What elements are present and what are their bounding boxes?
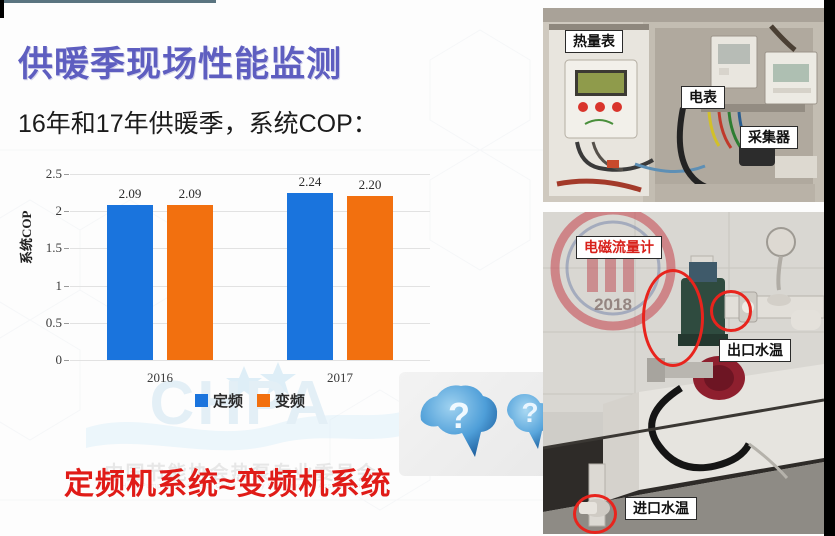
chart-data-label: 2.09 [119, 186, 142, 202]
chart-legend: 定频 变频 [70, 390, 430, 411]
highlight-circle-flow-meter [642, 269, 704, 367]
chart-y-tick-label: 1 [56, 278, 63, 294]
chart-bar-变频-2017[interactable] [347, 196, 393, 360]
chart-y-axis-title: 系统COP [16, 211, 35, 264]
chart-x-tick-label: 2017 [327, 370, 353, 386]
chart-y-tick-label: 0.5 [46, 315, 62, 331]
page-title: 供暖季现场性能监测 [18, 36, 342, 87]
page-subtitle: 16年和17年供暖季，系统COP： [18, 104, 378, 140]
highlight-circle-inlet-temp [573, 494, 617, 534]
legend-label-bianpin: 变频 [275, 390, 305, 411]
slide-canvas: 供暖季现场性能监测 16年和17年供暖季，系统COP： 系统COP CHPA 中… [0, 0, 835, 536]
legend-item-bianpin[interactable]: 变频 [257, 390, 305, 411]
chart-y-tick-label: 1.5 [46, 240, 62, 256]
highlight-circle-outlet-temp [710, 290, 752, 332]
svg-text:?: ? [521, 397, 538, 428]
callout-data-collector: 采集器 [740, 126, 798, 149]
chart-bar-定频-2016[interactable] [107, 205, 153, 360]
svg-text:?: ? [448, 395, 470, 436]
chart-gridline [70, 174, 430, 175]
chart-bar-定频-2017[interactable] [287, 193, 333, 360]
piping-instrumentation-photo: 2018 电磁流量计 出口水温 进口水温 [543, 212, 824, 534]
chart-plot-area: 00.511.522.52.092.0920162.242.202017 [70, 174, 430, 360]
chart-y-tick-label: 2.5 [46, 166, 62, 182]
chart-x-tick-label: 2016 [147, 370, 173, 386]
callout-flow-meter: 电磁流量计 [576, 236, 662, 259]
top-rule [4, 0, 216, 3]
callout-inlet-water-temp: 进口水温 [625, 497, 697, 520]
right-edge-bar [824, 0, 835, 536]
legend-swatch-blue [195, 394, 208, 407]
legend-label-dingpin: 定频 [213, 390, 243, 411]
chart-data-label: 2.24 [299, 174, 322, 190]
conclusion-text: 定频机系统≈变频机系统 [64, 459, 391, 503]
cop-bar-chart: 系统COP CHPA 中国节能协会热泵专业委员会 Heat Pump Commi… [18, 168, 438, 428]
chart-y-tick-label: 2 [56, 203, 63, 219]
callout-electricity-meter: 电表 [681, 86, 725, 109]
chart-gridline [70, 360, 430, 361]
legend-swatch-orange [257, 394, 270, 407]
legend-item-dingpin[interactable]: 定频 [195, 390, 243, 411]
cloud-shape-left: ? [421, 385, 498, 457]
callout-outlet-water-temp: 出口水温 [719, 339, 791, 362]
metering-cabinet-photo: 热量表 电表 采集器 [543, 8, 824, 202]
chart-data-label: 2.09 [179, 186, 202, 202]
callout-heat-meter: 热量表 [565, 30, 623, 53]
chart-bar-变频-2016[interactable] [167, 205, 213, 360]
chart-data-label: 2.20 [359, 177, 382, 193]
chart-y-tick-label: 0 [56, 352, 63, 368]
